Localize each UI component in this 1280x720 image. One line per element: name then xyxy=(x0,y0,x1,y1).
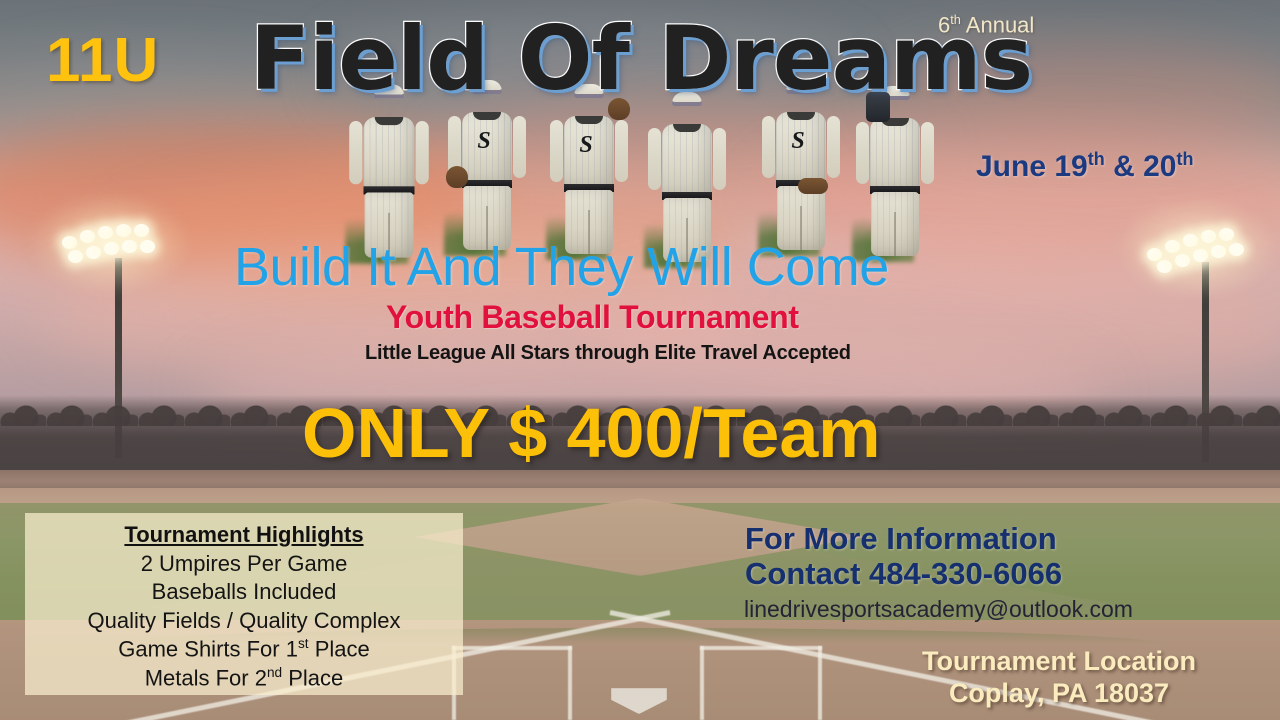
event-dates-mid: & 20 xyxy=(1105,150,1177,183)
event-dates-ord2: th xyxy=(1176,149,1193,169)
highlights-item: Quality Fields / Quality Complex xyxy=(25,607,463,636)
age-group-label: 11U xyxy=(46,30,159,92)
batters-box-right-side xyxy=(818,646,822,720)
batters-box-left-inner xyxy=(568,646,572,720)
page-title: Field Of Dreams xyxy=(250,13,1032,105)
eligibility-note: Little League All Stars through Elite Tr… xyxy=(365,343,851,363)
location-value: Coplay, PA 18037 xyxy=(922,678,1196,710)
contact-phone[interactable]: Contact 484-330-6066 xyxy=(745,557,1062,592)
batters-box-left-top xyxy=(452,646,572,650)
highlights-item: Baseballs Included xyxy=(25,578,463,607)
price-callout: ONLY $ 400/Team xyxy=(302,398,881,468)
event-subtitle: Youth Baseball Tournament xyxy=(386,301,799,333)
highlights-item-pre: Metals For 2 xyxy=(145,666,267,691)
location-label: Tournament Location xyxy=(922,646,1196,678)
highlights-item: 2 Umpires Per Game xyxy=(25,550,463,579)
contact-email[interactable]: linedrivesportsacademy@outlook.com xyxy=(744,598,1133,621)
highlights-item: Game Shirts For 1st Place xyxy=(25,635,463,664)
event-dates-part1: June 19 xyxy=(976,150,1088,183)
team-logo-letter: S xyxy=(474,128,494,154)
tournament-highlights-panel: Tournament Highlights 2 Umpires Per Game… xyxy=(25,513,463,695)
event-dates-ord1: th xyxy=(1088,149,1105,169)
highlights-title: Tournament Highlights xyxy=(25,521,463,549)
batters-box-right-top xyxy=(700,646,822,650)
location-block: Tournament Location Coplay, PA 18037 xyxy=(922,646,1196,710)
flyer-canvas: S S S xyxy=(0,0,1280,720)
tagline: Build It And They Will Come xyxy=(234,240,889,294)
contact-heading: For More Information xyxy=(745,522,1062,557)
team-logo-letter: S xyxy=(576,132,596,158)
highlights-item-post: Place xyxy=(309,637,370,662)
outfield-fence xyxy=(0,470,1280,490)
highlights-item-sup: st xyxy=(298,636,309,651)
highlights-item-sup: nd xyxy=(267,665,282,680)
event-dates: June 19th & 20th xyxy=(976,150,1193,182)
ghost-player xyxy=(351,84,426,257)
team-logo-letter: S xyxy=(788,128,808,154)
highlights-item: Metals For 2nd Place xyxy=(25,664,463,693)
highlights-item-post: Place xyxy=(282,666,343,691)
ghost-player xyxy=(858,86,932,256)
highlights-item-pre: Game Shirts For 1 xyxy=(118,637,298,662)
contact-block: For More Information Contact 484-330-606… xyxy=(745,522,1062,591)
batters-box-right-inner xyxy=(700,646,704,720)
